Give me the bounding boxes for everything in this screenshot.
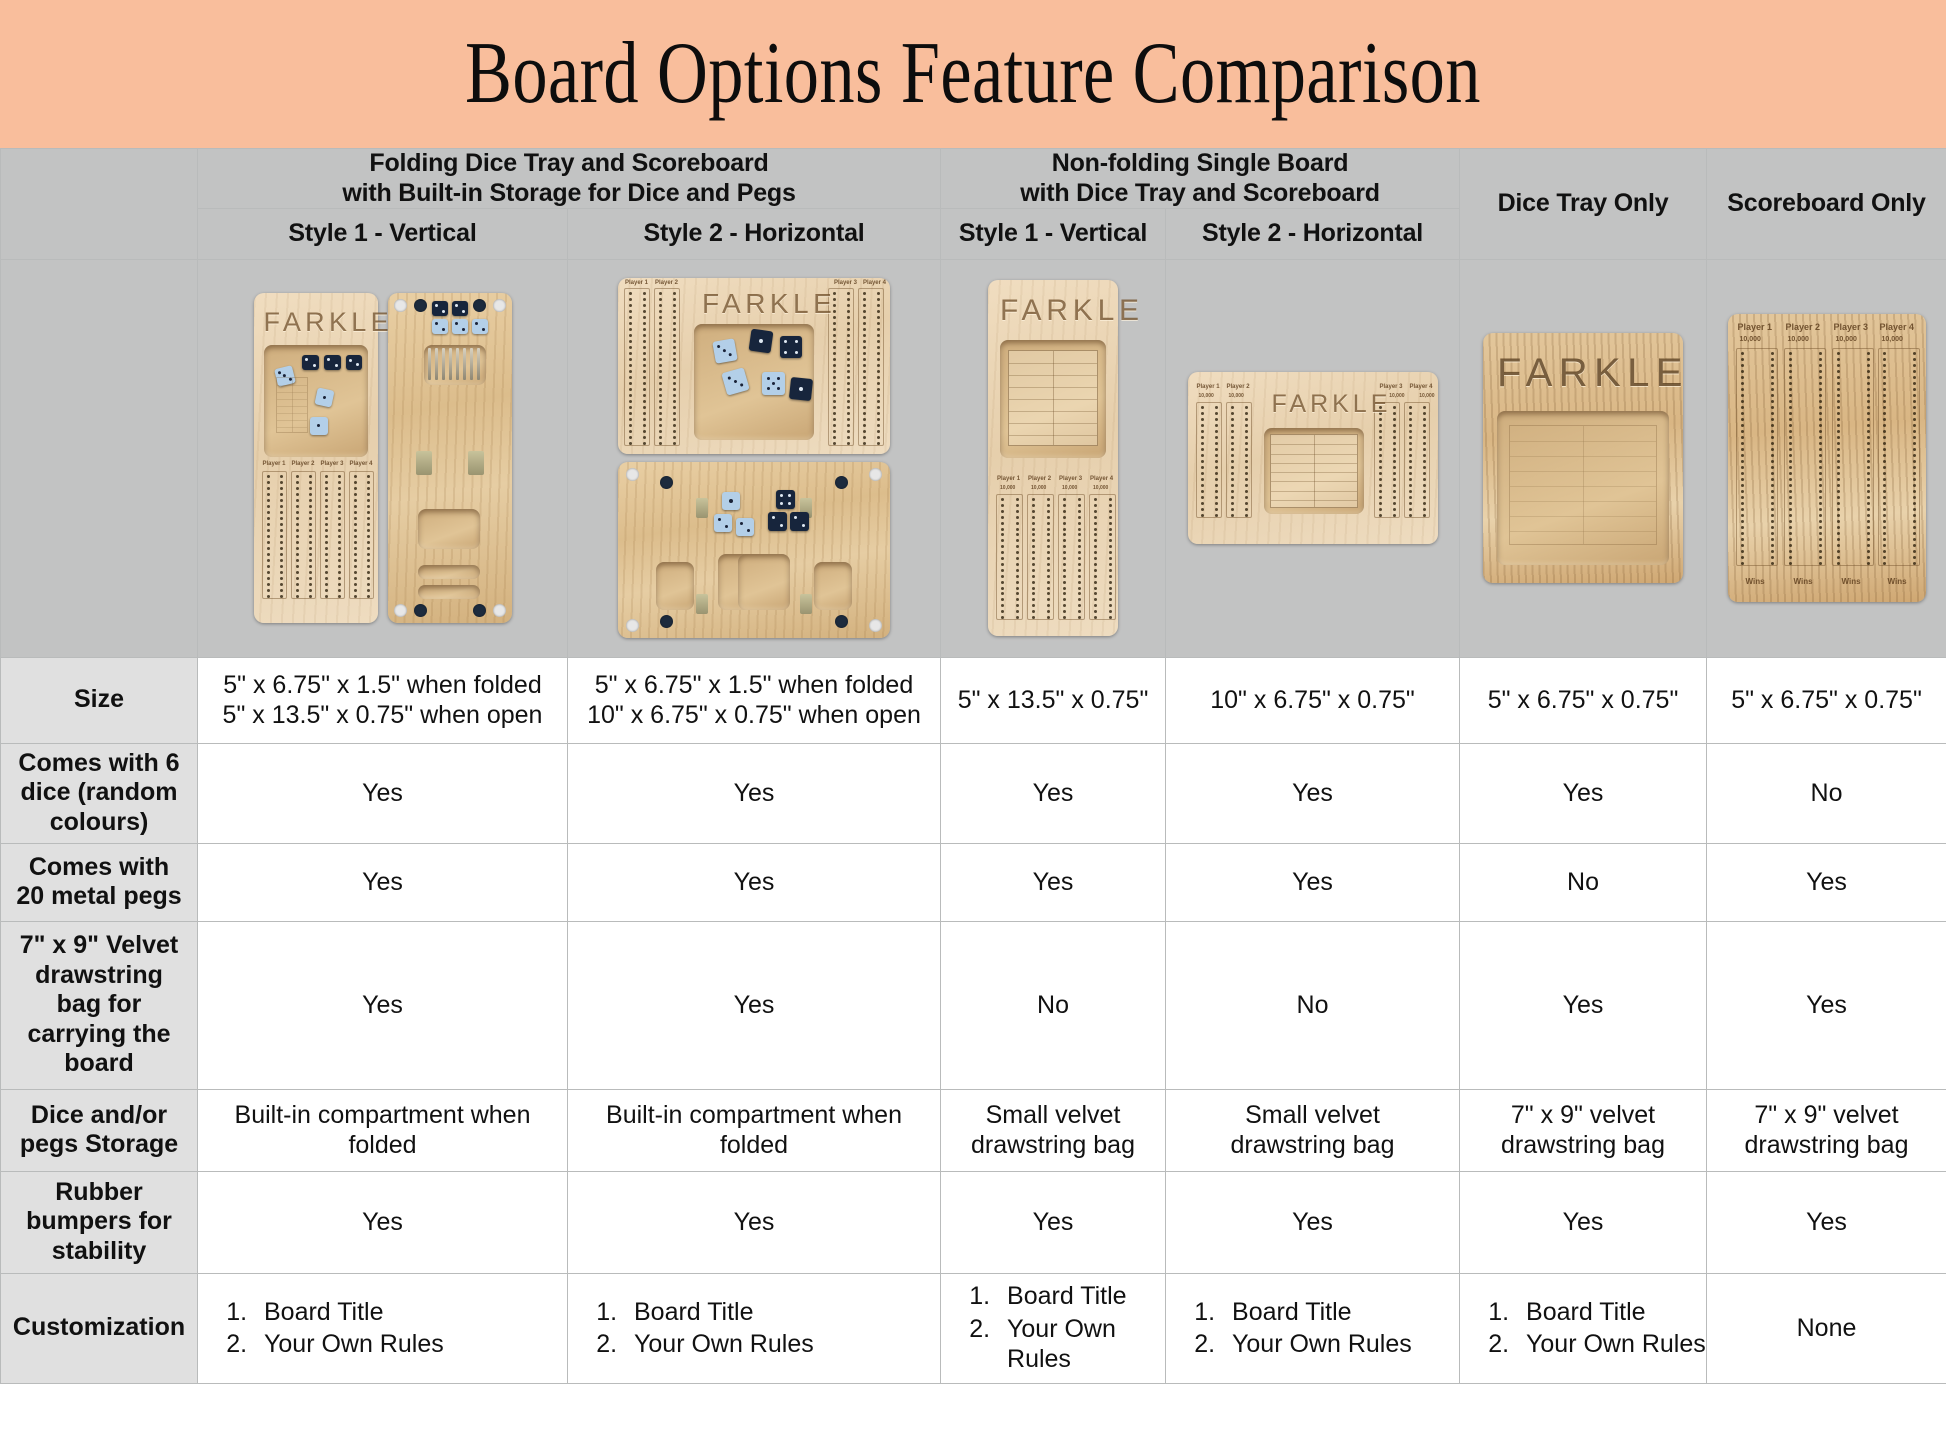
cell-pegs-folding-horizontal: Yes (568, 843, 941, 921)
header-dice-tray-only: Dice Tray Only (1460, 149, 1707, 260)
row-label-dice-line3: colours) (1, 808, 197, 838)
row-rubber-bumpers: Rubber bumpers for stability Yes Yes Yes… (1, 1171, 1946, 1273)
cell-storage-scoreboard-only-line2: drawstring bag (1707, 1130, 1946, 1161)
cell-pegs-scoreboard-only: Yes (1707, 843, 1946, 921)
header-style-folding-vertical: Style 1 - Vertical (198, 209, 568, 260)
page-title-banner: Board Options Feature Comparison (0, 0, 1946, 148)
cell-size-dice-tray-only: 5" x 6.75" x 0.75" (1460, 657, 1707, 743)
custom-item-own-rules: Your Own Rules (1222, 1329, 1459, 1360)
cell-dice-folding-horizontal: Yes (568, 743, 941, 843)
custom-item-own-rules: Your Own Rules (997, 1314, 1165, 1375)
cell-pegs-nonfolding-horizontal: Yes (1166, 843, 1460, 921)
cell-storage-nonfolding-horizontal-line2: drawstring bag (1166, 1130, 1459, 1161)
cell-size-folding-vertical-line2: 5" x 13.5" x 0.75" when open (198, 700, 567, 731)
header-group-nonfolding-line2: with Dice Tray and Scoreboard (941, 179, 1459, 209)
custom-item-board-title: Board Title (1222, 1297, 1459, 1328)
cell-size-folding-vertical: 5" x 6.75" x 1.5" when folded 5" x 13.5"… (198, 657, 568, 743)
row-label-customization: Customization (1, 1273, 198, 1383)
row-storage: Dice and/or pegs Storage Built-in compar… (1, 1089, 1946, 1171)
board-back-folding-vertical (388, 293, 512, 623)
cell-storage-nonfolding-vertical-line1: Small velvet (941, 1100, 1165, 1131)
cell-storage-folding-vertical-line1: Built-in compartment when (198, 1100, 567, 1131)
cell-size-folding-horizontal: 5" x 6.75" x 1.5" when folded 10" x 6.75… (568, 657, 941, 743)
header-group-nonfolding: Non-folding Single Board with Dice Tray … (941, 149, 1460, 209)
custom-item-own-rules: Your Own Rules (1516, 1329, 1706, 1360)
cell-bag-nonfolding-horizontal: No (1166, 921, 1460, 1089)
page-title: Board Options Feature Comparison (465, 30, 1481, 118)
row-label-velvet-bag-line4: carrying the (1, 1020, 197, 1050)
cell-dice-dice-tray-only: Yes (1460, 743, 1707, 843)
cell-dice-nonfolding-horizontal: Yes (1166, 743, 1460, 843)
row-label-dice: Comes with 6 dice (random colours) (1, 743, 198, 843)
row-dice: Comes with 6 dice (random colours) Yes Y… (1, 743, 1946, 843)
row-label-pegs-line1: Comes with (1, 853, 197, 883)
cell-rubber-nonfolding-vertical: Yes (941, 1171, 1166, 1273)
cell-size-folding-vertical-line1: 5" x 6.75" x 1.5" when folded (198, 670, 567, 701)
cell-storage-folding-horizontal-line1: Built-in compartment when (568, 1100, 940, 1131)
cell-rubber-nonfolding-horizontal: Yes (1166, 1171, 1460, 1273)
cell-size-nonfolding-horizontal: 10" x 6.75" x 0.75" (1166, 657, 1460, 743)
cell-rubber-folding-horizontal: Yes (568, 1171, 941, 1273)
row-pegs: Comes with 20 metal pegs Yes Yes Yes Yes… (1, 843, 1946, 921)
cell-rubber-scoreboard-only: Yes (1707, 1171, 1946, 1273)
cell-pegs-dice-tray-only: No (1460, 843, 1707, 921)
product-image-folding-vertical: FARKLE Player 1 (198, 259, 568, 657)
cell-pegs-nonfolding-vertical: Yes (941, 843, 1166, 921)
row-label-storage: Dice and/or pegs Storage (1, 1089, 198, 1171)
header-style-nonfolding-horizontal: Style 2 - Horizontal (1166, 209, 1460, 260)
row-label-rubber-line1: Rubber (1, 1178, 197, 1208)
cell-dice-nonfolding-vertical: Yes (941, 743, 1166, 843)
row-label-velvet-bag-line1: 7" x 9" Velvet (1, 931, 197, 961)
row-label-dice-line2: dice (random (1, 778, 197, 808)
custom-item-own-rules: Your Own Rules (624, 1329, 940, 1360)
row-label-storage-line2: pegs Storage (1, 1130, 197, 1160)
cell-customization-scoreboard-only: None (1707, 1273, 1946, 1383)
row-label-rubber-line2: bumpers for (1, 1207, 197, 1237)
feature-comparison-table: Folding Dice Tray and Scoreboard with Bu… (0, 148, 1946, 1384)
cell-customization-folding-horizontal: Board TitleYour Own Rules (568, 1273, 941, 1383)
board-dice-tray-only: FARKLE (1483, 333, 1683, 583)
header-corner-blank (1, 149, 198, 260)
board-scoreboard-only: Player 1 Player 2 Player 3 Player 4 10,0… (1728, 314, 1926, 602)
header-style-folding-horizontal: Style 2 - Horizontal (568, 209, 941, 260)
cell-storage-dice-tray-only-line1: 7" x 9" velvet (1460, 1100, 1706, 1131)
header-group-folding-line2: with Built-in Storage for Dice and Pegs (198, 179, 940, 209)
row-label-pegs: Comes with 20 metal pegs (1, 843, 198, 921)
product-image-scoreboard-only: Player 1 Player 2 Player 3 Player 4 10,0… (1707, 259, 1946, 657)
row-label-velvet-bag-line3: bag for (1, 990, 197, 1020)
cell-dice-folding-vertical: Yes (198, 743, 568, 843)
header-group-row: Folding Dice Tray and Scoreboard with Bu… (1, 149, 1946, 209)
cell-size-scoreboard-only: 5" x 6.75" x 0.75" (1707, 657, 1946, 743)
product-image-row: FARKLE Player 1 (1, 259, 1946, 657)
image-row-blank (1, 259, 198, 657)
header-group-folding-line1: Folding Dice Tray and Scoreboard (198, 149, 940, 179)
cell-storage-nonfolding-vertical: Small velvet drawstring bag (941, 1089, 1166, 1171)
row-label-velvet-bag-line5: board (1, 1049, 197, 1079)
cell-bag-scoreboard-only: Yes (1707, 921, 1946, 1089)
board-front-folding-vertical: FARKLE Player 1 (254, 293, 378, 623)
cell-size-folding-horizontal-line1: 5" x 6.75" x 1.5" when folded (568, 670, 940, 701)
header-scoreboard-only: Scoreboard Only (1707, 149, 1946, 260)
row-label-pegs-line2: 20 metal pegs (1, 882, 197, 912)
cell-storage-dice-tray-only: 7" x 9" velvet drawstring bag (1460, 1089, 1707, 1171)
cell-storage-nonfolding-vertical-line2: drawstring bag (941, 1130, 1165, 1161)
board-back-folding-horizontal (618, 462, 890, 638)
custom-item-board-title: Board Title (1516, 1297, 1706, 1328)
custom-item-board-title: Board Title (624, 1297, 940, 1328)
cell-storage-dice-tray-only-line2: drawstring bag (1460, 1130, 1706, 1161)
cell-storage-folding-horizontal: Built-in compartment when folded (568, 1089, 941, 1171)
header-group-nonfolding-line1: Non-folding Single Board (941, 149, 1459, 179)
cell-storage-folding-vertical: Built-in compartment when folded (198, 1089, 568, 1171)
comparison-page: Board Options Feature Comparison Folding… (0, 0, 1946, 1450)
row-label-rubber-bumpers: Rubber bumpers for stability (1, 1171, 198, 1273)
product-image-nonfolding-horizontal: Player 1 Player 2 Player 3 Player 4 10,0… (1166, 259, 1460, 657)
cell-dice-scoreboard-only: No (1707, 743, 1946, 843)
row-customization: Customization Board TitleYour Own Rules … (1, 1273, 1946, 1383)
row-label-dice-line1: Comes with 6 (1, 749, 197, 779)
row-label-velvet-bag-line2: drawstring (1, 961, 197, 991)
header-group-folding: Folding Dice Tray and Scoreboard with Bu… (198, 149, 941, 209)
custom-item-board-title: Board Title (254, 1297, 567, 1328)
cell-rubber-folding-vertical: Yes (198, 1171, 568, 1273)
cell-storage-folding-horizontal-line2: folded (568, 1130, 940, 1161)
row-size: Size 5" x 6.75" x 1.5" when folded 5" x … (1, 657, 1946, 743)
cell-rubber-dice-tray-only: Yes (1460, 1171, 1707, 1273)
cell-bag-nonfolding-vertical: No (941, 921, 1166, 1089)
cell-pegs-folding-vertical: Yes (198, 843, 568, 921)
cell-storage-scoreboard-only-line1: 7" x 9" velvet (1707, 1100, 1946, 1131)
cell-customization-dice-tray-only: Board TitleYour Own Rules (1460, 1273, 1707, 1383)
cell-size-nonfolding-vertical: 5" x 13.5" x 0.75" (941, 657, 1166, 743)
board-front-folding-horizontal: Player 1 Player 2 Player 3 Player 4 FARK… (618, 278, 890, 454)
board-nonfolding-horizontal: Player 1 Player 2 Player 3 Player 4 10,0… (1188, 372, 1438, 544)
row-label-rubber-line3: stability (1, 1237, 197, 1267)
cell-customization-nonfolding-horizontal: Board TitleYour Own Rules (1166, 1273, 1460, 1383)
header-style-nonfolding-vertical: Style 1 - Vertical (941, 209, 1166, 260)
cell-storage-folding-vertical-line2: folded (198, 1130, 567, 1161)
row-velvet-bag: 7" x 9" Velvet drawstring bag for carryi… (1, 921, 1946, 1089)
row-label-velvet-bag: 7" x 9" Velvet drawstring bag for carryi… (1, 921, 198, 1089)
cell-storage-nonfolding-horizontal-line1: Small velvet (1166, 1100, 1459, 1131)
cell-bag-dice-tray-only: Yes (1460, 921, 1707, 1089)
cell-customization-folding-vertical: Board TitleYour Own Rules (198, 1273, 568, 1383)
custom-item-own-rules: Your Own Rules (254, 1329, 567, 1360)
product-image-folding-horizontal: Player 1 Player 2 Player 3 Player 4 FARK… (568, 259, 941, 657)
cell-bag-folding-vertical: Yes (198, 921, 568, 1089)
row-label-size: Size (1, 657, 198, 743)
row-label-storage-line1: Dice and/or (1, 1101, 197, 1131)
cell-bag-folding-horizontal: Yes (568, 921, 941, 1089)
board-nonfolding-vertical: FARKLE Player 1 Player 2 Player 3 Player… (988, 280, 1118, 636)
farkle-brand-text: FARKLE (264, 307, 393, 338)
custom-item-board-title: Board Title (997, 1281, 1165, 1312)
product-image-nonfolding-vertical: FARKLE Player 1 Player 2 Player 3 Player… (941, 259, 1166, 657)
cell-storage-scoreboard-only: 7" x 9" velvet drawstring bag (1707, 1089, 1946, 1171)
product-image-dice-tray-only: FARKLE (1460, 259, 1707, 657)
cell-storage-nonfolding-horizontal: Small velvet drawstring bag (1166, 1089, 1460, 1171)
cell-customization-nonfolding-vertical: Board TitleYour Own Rules (941, 1273, 1166, 1383)
cell-size-folding-horizontal-line2: 10" x 6.75" x 0.75" when open (568, 700, 940, 731)
